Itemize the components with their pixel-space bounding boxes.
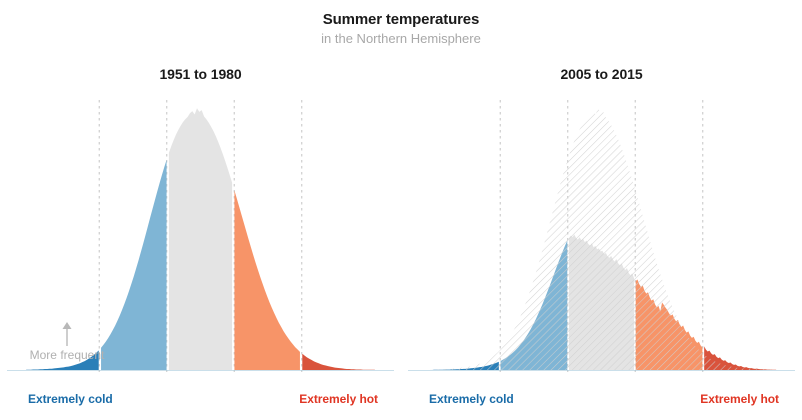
panel-1951-1980: 1951 to 1980 More frequent Extremely col…: [0, 60, 401, 420]
axis-label-extremely-hot-right: Extremely hot: [700, 392, 779, 406]
page-subtitle: in the Northern Hemisphere: [0, 30, 802, 47]
reference-distribution: [427, 108, 776, 370]
axis-label-extremely-cold-right: Extremely cold: [429, 392, 514, 406]
histogram-1951-1980: [0, 60, 401, 420]
axis-label-extremely-hot-left: Extremely hot: [299, 392, 378, 406]
panels-container: 1951 to 1980 More frequent Extremely col…: [0, 60, 802, 420]
page-title: Summer temperatures: [0, 11, 802, 29]
more-frequent-label: More frequent: [12, 348, 122, 362]
chart-header: Summer temperatures in the Northern Hemi…: [0, 0, 802, 47]
panel-2005-2015: 2005 to 2015 Extremely cold Extremely ho…: [401, 60, 802, 420]
axis-label-extremely-cold-left: Extremely cold: [28, 392, 113, 406]
histogram-2005-2015: [401, 60, 802, 420]
